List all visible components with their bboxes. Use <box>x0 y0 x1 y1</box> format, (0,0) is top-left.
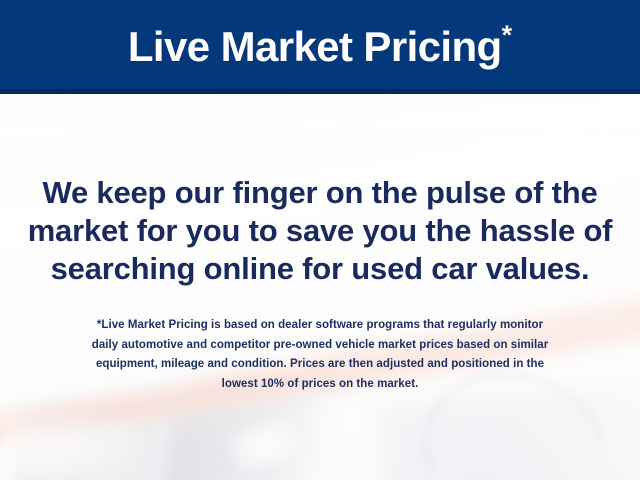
disclaimer-line-3: equipment, mileage and condition. Prices… <box>26 355 614 375</box>
banner-footnote-asterisk: * <box>502 20 513 50</box>
banner-title-text: Live Market Pricing <box>128 23 502 70</box>
headline: We keep our finger on the pulse of the m… <box>22 174 618 288</box>
banner-title: Live Market Pricing* <box>128 22 512 68</box>
headline-line-3: searching online for used car values. <box>22 250 618 288</box>
disclaimer-line-4: lowest 10% of prices on the market. <box>26 375 614 395</box>
banner-bottom-edge <box>0 89 640 94</box>
disclaimer-text: *Live Market Pricing is based on dealer … <box>26 316 614 394</box>
content-area: We keep our finger on the pulse of the m… <box>0 94 640 480</box>
headline-line-2: market for you to save you the hassle of <box>22 212 618 250</box>
disclaimer-line-1: *Live Market Pricing is based on dealer … <box>26 316 614 336</box>
live-market-pricing-banner: Live Market Pricing* We keep our finger … <box>0 0 640 480</box>
header-banner: Live Market Pricing* <box>0 0 640 94</box>
headline-line-1: We keep our finger on the pulse of the <box>22 174 618 212</box>
disclaimer-line-2: daily automotive and competitor pre-owne… <box>26 336 614 356</box>
